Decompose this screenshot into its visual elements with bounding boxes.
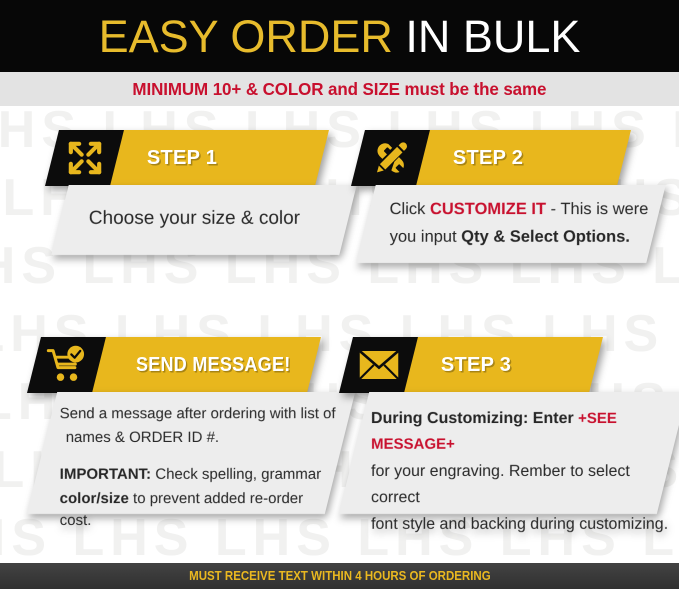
body-line: Choose your size & color bbox=[89, 205, 351, 233]
body-span-highlight: CUSTOMIZE IT bbox=[430, 200, 546, 218]
body-span: Choose your size & color bbox=[89, 208, 300, 229]
steps-container: STEP 1 Choose your size & color bbox=[0, 106, 679, 563]
body-line: you input Qty & Select Options. bbox=[390, 225, 658, 251]
page-title-secondary: IN BULK bbox=[393, 11, 581, 62]
page-title: EASY ORDER IN BULK bbox=[99, 14, 581, 59]
step-body-panel: Choose your size & color bbox=[51, 185, 356, 255]
step-body-text: Choose your size & color bbox=[63, 185, 351, 233]
body-span: font style and backing during customizin… bbox=[371, 516, 668, 533]
body-span: - This is were bbox=[546, 200, 648, 218]
body-span: you input bbox=[390, 228, 462, 246]
body-span: Click bbox=[390, 200, 430, 218]
wrench-pencil-icon bbox=[371, 138, 411, 178]
body-line: During Customizing: Enter +SEE MESSAGE+ bbox=[371, 406, 669, 457]
step-card-step2: STEP 2 Click CUSTOMIZE IT - This is were… bbox=[358, 130, 656, 263]
body-span: Check spelling, grammar bbox=[151, 466, 321, 483]
step-card-header: STEP 3 bbox=[346, 337, 596, 393]
body-line: names & ORDER ID #. bbox=[60, 427, 338, 450]
header-bar: EASY ORDER IN BULK bbox=[0, 0, 679, 72]
expand-arrows-icon bbox=[65, 138, 105, 178]
body-line: Click CUSTOMIZE IT - This is were bbox=[390, 197, 658, 223]
footer-bar: MUST RECEIVE TEXT WITHIN 4 HOURS OF ORDE… bbox=[0, 563, 679, 589]
step-body-text: Click CUSTOMIZE IT - This is were you in… bbox=[368, 185, 658, 250]
step-banner-label: STEP 2 bbox=[423, 147, 523, 170]
body-line: Send a message after ordering with list … bbox=[60, 403, 338, 426]
envelope-icon bbox=[358, 349, 400, 381]
step-body-panel: Send a message after ordering with list … bbox=[27, 392, 355, 514]
body-span-bold: IMPORTANT: bbox=[60, 466, 151, 483]
subtitle-text: MINIMUM 10+ & COLOR and SIZE must be the… bbox=[133, 79, 547, 100]
subtitle-bar: MINIMUM 10+ & COLOR and SIZE must be the… bbox=[0, 72, 679, 106]
body-span: names & ORDER ID #. bbox=[66, 429, 219, 446]
step-card-step3: STEP 3 During Customizing: Enter +SEE ME… bbox=[346, 337, 666, 514]
step-banner-label: SEND MESSAGE! bbox=[109, 354, 291, 377]
step-banner-label: STEP 1 bbox=[117, 147, 217, 170]
step-body-text: During Customizing: Enter +SEE MESSAGE+ … bbox=[351, 392, 669, 538]
step-body-panel: Click CUSTOMIZE IT - This is were you in… bbox=[356, 185, 665, 263]
step-card-send-message: SEND MESSAGE! Send a message after order… bbox=[34, 337, 334, 514]
step-card-header: SEND MESSAGE! bbox=[34, 337, 314, 393]
step-banner: STEP 1 bbox=[110, 130, 329, 186]
footer-text: MUST RECEIVE TEXT WITHIN 4 HOURS OF ORDE… bbox=[189, 569, 491, 583]
body-span: Send a message after ordering with list … bbox=[60, 405, 336, 422]
promo-poster: LHS LHS LHS LHS LHS LHS LHS LHS LHS LHS … bbox=[0, 0, 679, 589]
body-line: color/size to prevent added re-order cos… bbox=[60, 488, 338, 533]
step-body-panel: During Customizing: Enter +SEE MESSAGE+ … bbox=[339, 392, 679, 514]
step-card-header: STEP 1 bbox=[52, 130, 322, 186]
step-banner: SEND MESSAGE! bbox=[92, 337, 321, 393]
body-span-bold: color/size bbox=[60, 490, 129, 507]
step-banner: STEP 3 bbox=[404, 337, 603, 393]
body-line: for your engraving. Rember to select cor… bbox=[371, 459, 669, 510]
body-span-bold: During Customizing: Enter bbox=[371, 410, 578, 427]
page-title-primary: EASY ORDER bbox=[99, 11, 393, 62]
body-span-bold: Qty & Select Options. bbox=[461, 228, 630, 246]
step-banner: STEP 2 bbox=[416, 130, 631, 186]
step-body-text: Send a message after ordering with list … bbox=[40, 392, 338, 533]
step-card-header: STEP 2 bbox=[358, 130, 624, 186]
step-card-step1: STEP 1 Choose your size & color bbox=[52, 130, 340, 255]
cart-check-icon bbox=[46, 345, 88, 385]
step-banner-label: STEP 3 bbox=[411, 354, 511, 377]
body-line: font style and backing during customizin… bbox=[371, 512, 669, 538]
body-span: for your engraving. Rember to select cor… bbox=[371, 463, 630, 506]
body-line: IMPORTANT: Check spelling, grammar bbox=[60, 464, 338, 487]
